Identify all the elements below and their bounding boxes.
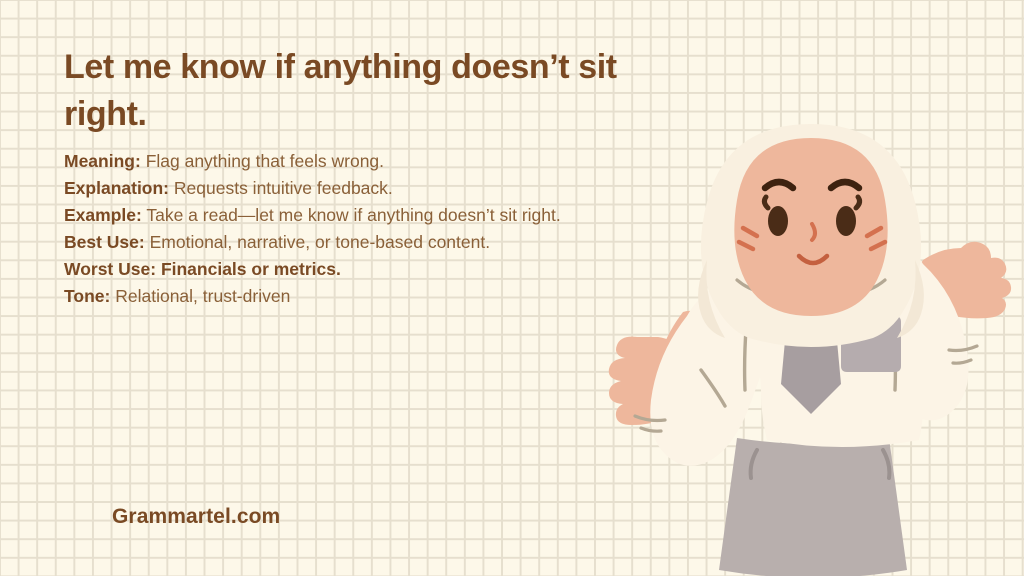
detail-value: Emotional, narrative, or tone-based cont… bbox=[150, 232, 490, 252]
detail-label: Best Use: bbox=[64, 232, 145, 252]
left-eye-icon bbox=[768, 206, 788, 236]
detail-label: Worst Use: bbox=[64, 259, 156, 279]
face-shape bbox=[734, 138, 887, 316]
detail-value: Financials or metrics. bbox=[161, 259, 341, 279]
right-eye-icon bbox=[836, 206, 856, 236]
detail-value: Relational, trust-driven bbox=[115, 286, 290, 306]
phrase-card: Let me know if anything doesn’t sit righ… bbox=[0, 0, 1024, 576]
brand-watermark: Grammartel.com bbox=[112, 505, 280, 529]
detail-label: Example: bbox=[64, 205, 142, 225]
detail-value: Flag anything that feels wrong. bbox=[146, 151, 384, 171]
skirt-group bbox=[719, 438, 907, 576]
detail-label: Explanation: bbox=[64, 178, 169, 198]
detail-value: Requests intuitive feedback. bbox=[174, 178, 393, 198]
face-group bbox=[734, 138, 887, 316]
detail-value: Take a read—let me know if anything does… bbox=[146, 205, 560, 225]
detail-label: Tone: bbox=[64, 286, 110, 306]
detail-label: Meaning: bbox=[64, 151, 141, 171]
skirt bbox=[719, 438, 907, 576]
shrugging-woman-illustration bbox=[575, 120, 1024, 576]
